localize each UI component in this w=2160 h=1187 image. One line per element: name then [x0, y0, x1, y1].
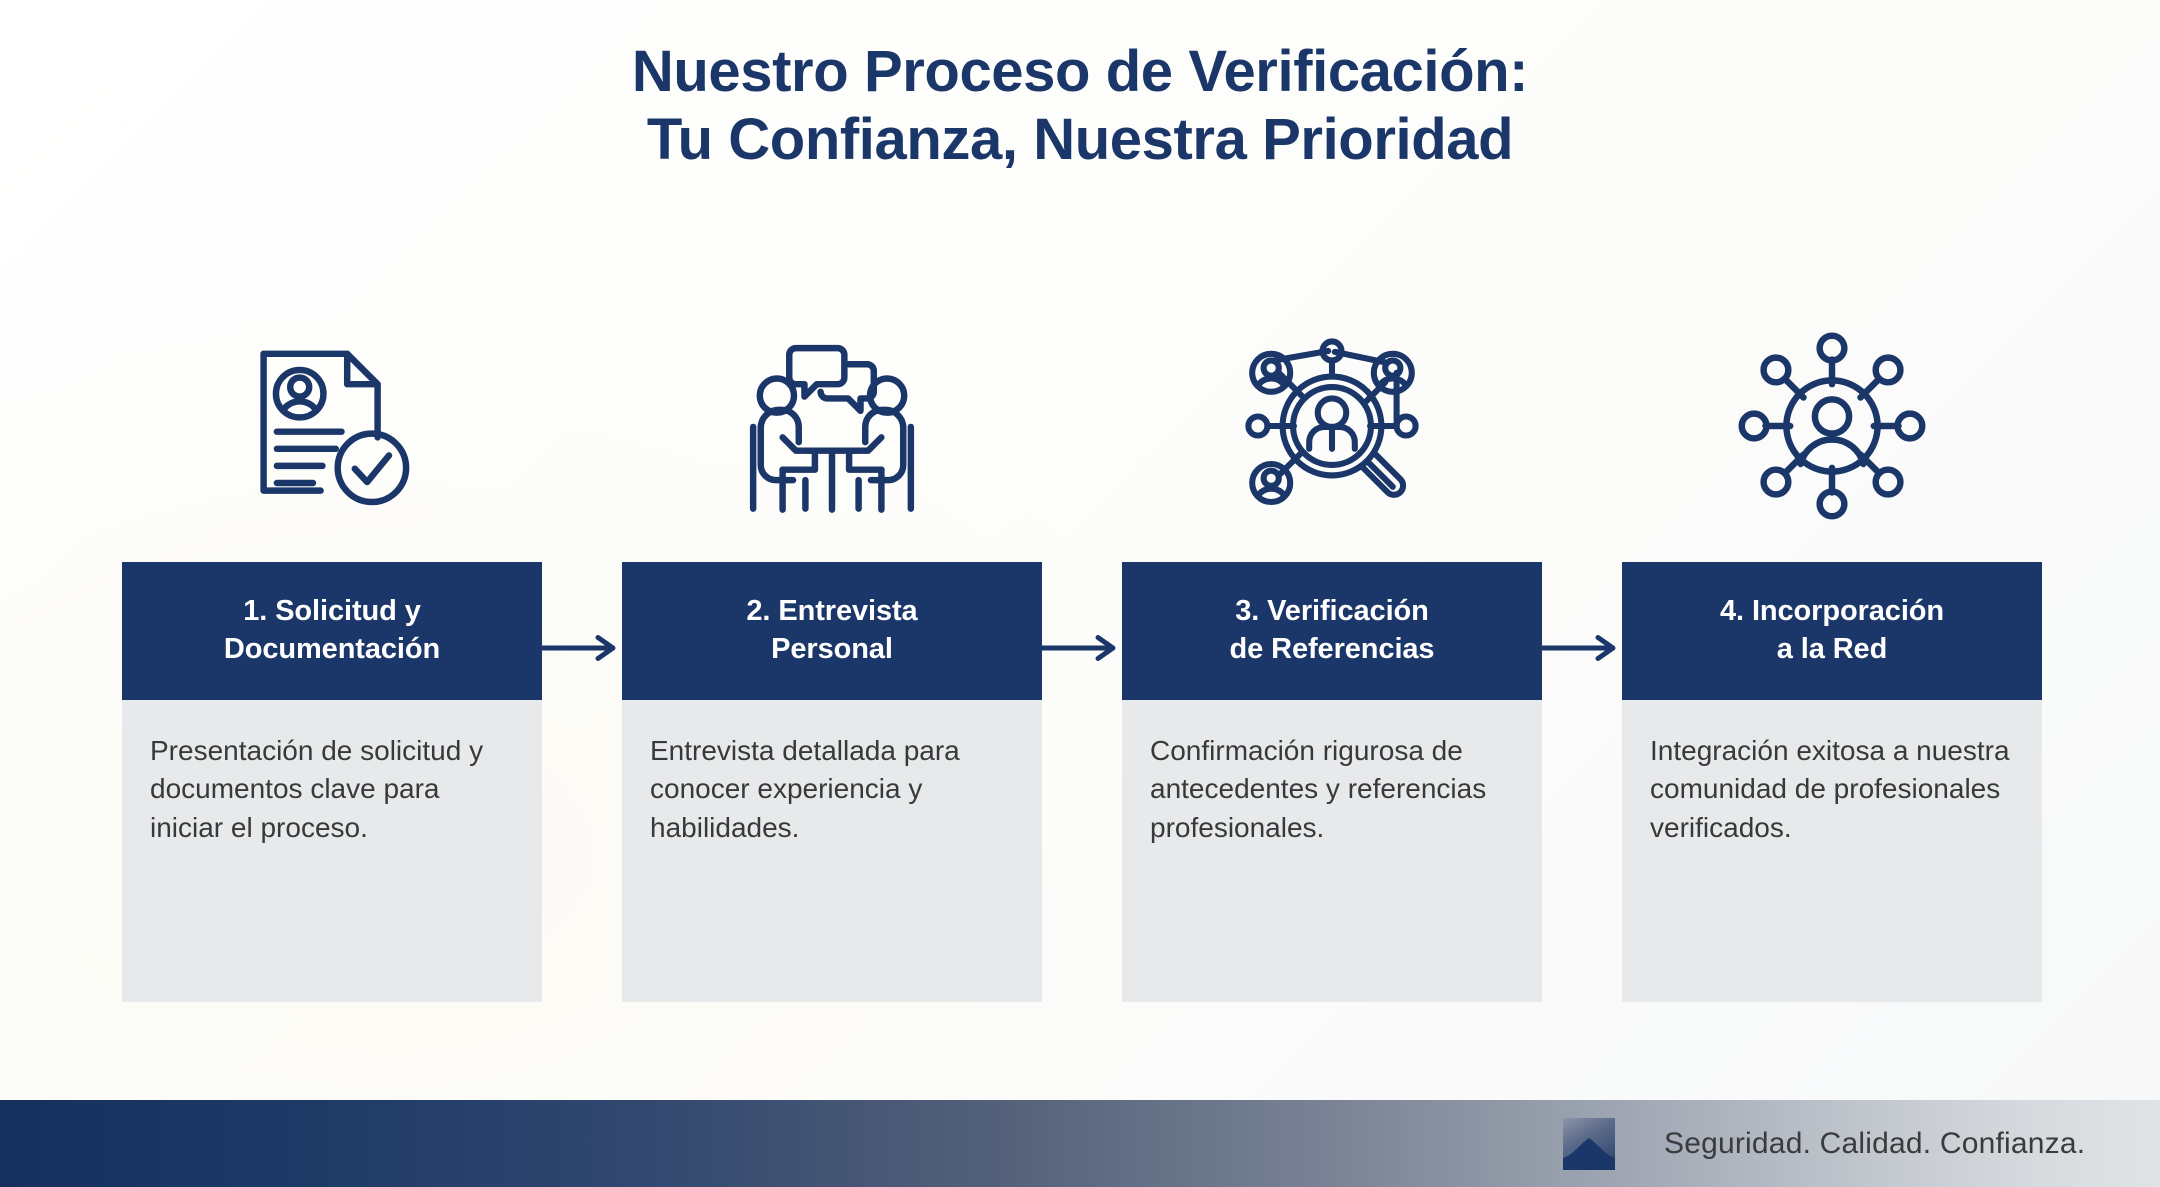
brand-mountain-logo [1563, 1118, 1615, 1170]
step-2-header-line-1: 2. Entrevista [746, 593, 917, 631]
step-4-description: Integración exitosa a nuestra comunidad … [1622, 700, 2042, 1002]
process-step-card-3[interactable]: 3. Verificación de Referencias Confirmac… [1122, 562, 1542, 1002]
process-steps-row: 1. Solicitud y Documentación Presentació… [122, 562, 2040, 1002]
step-4-header-line-1: 4. Incorporación [1720, 593, 1944, 631]
step-1-header-line-2: Documentación [224, 631, 440, 669]
step-1-header-line-1: 1. Solicitud y [243, 593, 420, 631]
step-1-header: 1. Solicitud y Documentación [122, 562, 542, 700]
step-2-description: Entrevista detallada para conocer experi… [622, 700, 1042, 1002]
step-1-icon-container [122, 326, 542, 526]
document-profile-check-icon [237, 331, 427, 521]
page-title: Nuestro Proceso de Verificación: Tu Conf… [0, 38, 2160, 175]
page-title-line-1: Nuestro Proceso de Verificación: [0, 38, 2160, 106]
arrow-step1-to-step2-icon [542, 631, 622, 665]
process-icon-row [122, 326, 2040, 526]
step-3-description: Confirmación rigurosa de antecedentes y … [1122, 700, 1542, 1002]
interview-two-people-speech-bubbles-icon [737, 331, 927, 521]
step-2-icon-container [622, 326, 1042, 526]
process-step-card-1[interactable]: 1. Solicitud y Documentación Presentació… [122, 562, 542, 1002]
step-2-header: 2. Entrevista Personal [622, 562, 1042, 700]
step-1-description: Presentación de solicitud y documentos c… [122, 700, 542, 1002]
step-4-header-line-2: a la Red [1777, 631, 1887, 669]
step-3-header-line-2: de Referencias [1230, 631, 1435, 669]
page-title-line-2: Tu Confianza, Nuestra Prioridad [0, 106, 2160, 174]
network-hub-person-icon [1737, 331, 1927, 521]
step-2-header-line-2: Personal [771, 631, 893, 669]
step-3-icon-container [1122, 326, 1542, 526]
process-step-card-2[interactable]: 2. Entrevista Personal Entrevista detall… [622, 562, 1042, 1002]
footer-tagline: Seguridad. Calidad. Confianza. [1664, 1127, 2085, 1161]
step-3-header: 3. Verificación de Referencias [1122, 562, 1542, 700]
step-4-header: 4. Incorporación a la Red [1622, 562, 2042, 700]
magnifier-people-network-icon [1237, 331, 1427, 521]
arrow-step3-to-step4-icon [1542, 631, 1622, 665]
process-step-card-4[interactable]: 4. Incorporación a la Red Integración ex… [1622, 562, 2042, 1002]
arrow-step2-to-step3-icon [1042, 631, 1122, 665]
step-3-header-line-1: 3. Verificación [1235, 593, 1429, 631]
step-4-icon-container [1622, 326, 2042, 526]
